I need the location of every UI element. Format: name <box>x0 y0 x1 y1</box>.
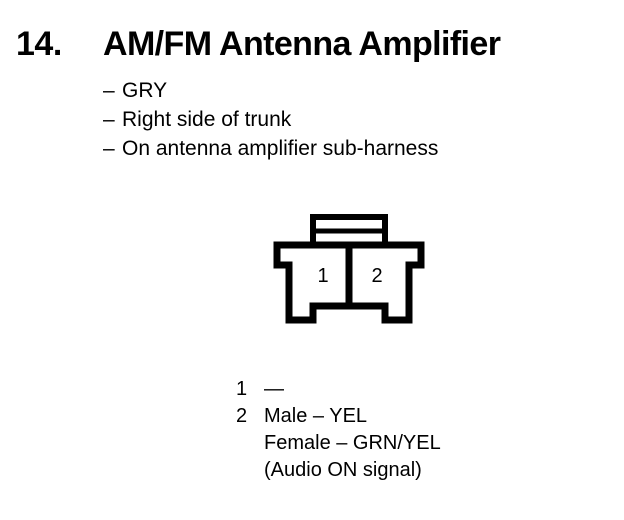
legend-value-line-male: Male – YEL <box>264 403 441 430</box>
legend-value-line: — <box>264 376 284 403</box>
legend-pin-number: 2 <box>236 403 264 430</box>
item-number: 14. <box>16 23 62 65</box>
pin-legend: 1 — 2 Male – YEL Female – GRN/YEL (Audio… <box>236 376 576 484</box>
bullet-dash-icon: – <box>103 105 122 134</box>
legend-value-line-signal: (Audio ON signal) <box>264 457 441 484</box>
detail-bullet-list: – GRY – Right side of trunk – On antenna… <box>103 76 603 163</box>
bullet-item-wire-color: – GRY <box>103 76 603 105</box>
legend-pin-number: 1 <box>236 376 264 403</box>
page-title: AM/FM Antenna Amplifier <box>103 23 500 65</box>
legend-value-group: — <box>264 376 284 403</box>
bullet-label: GRY <box>122 76 167 105</box>
connector-outline-svg: 1 2 <box>265 210 437 338</box>
cavity-number-2: 2 <box>371 265 382 287</box>
legend-value-line-female: Female – GRN/YEL <box>264 430 441 457</box>
legend-row-pin-2: 2 Male – YEL Female – GRN/YEL (Audio ON … <box>236 403 576 484</box>
cavity-number-1: 1 <box>317 265 328 287</box>
connector-locking-tab <box>313 217 385 245</box>
connector-diagram: 1 2 <box>265 210 437 338</box>
connector-reference-page: { "page": { "background_color": "#ffffff… <box>0 0 624 520</box>
bullet-label: Right side of trunk <box>122 105 291 134</box>
legend-row-pin-1: 1 — <box>236 376 576 403</box>
page-header: 14. AM/FM Antenna Amplifier <box>0 23 624 67</box>
legend-value-group: Male – YEL Female – GRN/YEL (Audio ON si… <box>264 403 441 484</box>
bullet-item-location: – Right side of trunk <box>103 105 603 134</box>
bullet-item-harness: – On antenna amplifier sub-harness <box>103 134 603 163</box>
bullet-dash-icon: – <box>103 76 122 105</box>
bullet-dash-icon: – <box>103 134 122 163</box>
bullet-label: On antenna amplifier sub-harness <box>122 134 438 163</box>
